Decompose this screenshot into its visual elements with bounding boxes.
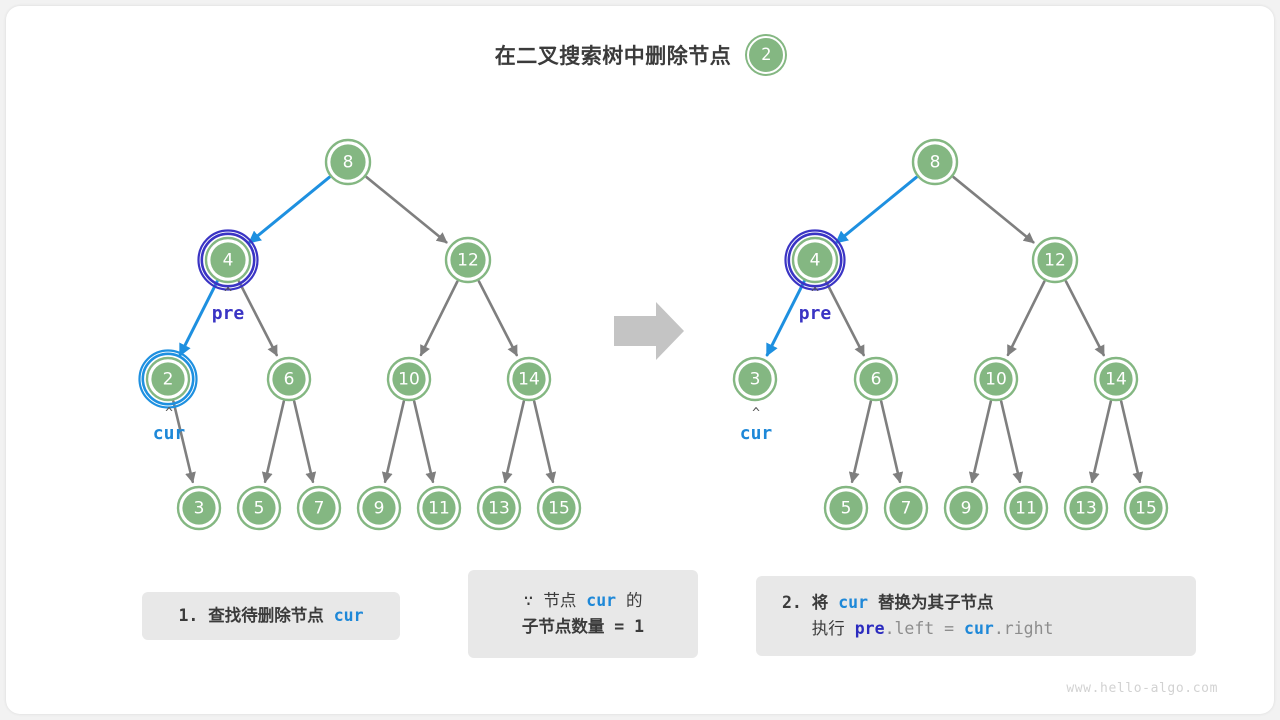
tree-node[interactable]: 11 [1005,487,1047,529]
tree-node-value: 4 [223,251,234,271]
tree-node-value: 2 [163,370,174,390]
tree-node[interactable]: 7 [298,487,340,529]
tree-edge [881,401,900,481]
caption-segment: cur [964,619,994,638]
tree-node-value: 8 [343,153,354,173]
pointer-cur: ^cur [153,406,186,444]
tree-edge [954,177,1034,242]
caption-segment: cur [586,591,616,610]
tree-node[interactable]: 8 [326,140,370,184]
tree-node[interactable]: 8 [913,140,957,184]
after-deletion-tree: 8412361014579111315^pre^cur [734,140,1167,529]
tree-node-value: 7 [901,499,912,519]
tree-edge [1001,401,1020,481]
pointer-label: cur [740,423,773,444]
tree-node[interactable]: 13 [478,487,520,529]
tree-node-value: 4 [810,251,821,271]
caption-line: 2. 将 cur 替换为其子节点 [782,590,1196,616]
caret-icon: ^ [165,406,173,421]
tree-node-value: 10 [398,370,420,390]
caption-line: 子节点数量 = 1 [522,614,644,640]
caption-segment: .left [885,619,935,638]
caption-segment: 替换为其子节点 [868,593,993,612]
tree-node-value: 15 [1135,499,1157,519]
tree-edge [265,401,284,481]
caption-segment: cur [334,606,364,625]
pointer-pre: ^pre [799,286,832,324]
tree-node-value: 6 [284,370,295,390]
tree-node-value: 5 [841,499,852,519]
tree-edge [479,281,517,355]
tree-node-value: 13 [1075,499,1097,519]
figure-card: 在二叉搜索树中删除节点 2 84122610143579111315^pre^c… [6,6,1274,714]
tree-node[interactable]: 4 [786,231,845,290]
tree-node[interactable]: 10 [388,358,430,400]
tree-edge [972,401,991,481]
tree-node[interactable]: 9 [358,487,400,529]
tree-edge [837,177,917,242]
tree-node-value: 11 [1015,499,1037,519]
tree-node-value: 3 [194,499,205,519]
tree-node-value: 3 [750,370,761,390]
tree-node[interactable]: 4 [199,231,258,290]
tree-edge [421,282,457,355]
caption-segment: 子节点数量 = 1 [522,617,644,636]
tree-node-value: 9 [374,499,385,519]
tree-node-value: 14 [518,370,540,390]
caption-segment: cur [838,593,868,612]
tree-node[interactable]: 5 [238,487,280,529]
tree-node[interactable]: 14 [508,358,550,400]
right-block-arrow [614,302,684,360]
tree-edge [367,177,447,242]
tree-node[interactable]: 2 [140,351,197,408]
tree-node-value: 11 [428,499,450,519]
tree-edge [250,177,330,242]
tree-node[interactable]: 6 [855,358,897,400]
caret-icon: ^ [811,286,819,301]
caption-segment: 的 [616,591,642,610]
caption-line: 执行 pre.left = cur.right [782,616,1196,642]
caption-segment: 执行 [782,619,855,638]
tree-node-value: 6 [871,370,882,390]
tree-node-value: 8 [930,153,941,173]
tree-edge [1008,282,1044,355]
watermark: www.hello-algo.com [1066,681,1218,696]
caption-step-1: 1. 查找待删除节点 cur [142,592,400,640]
tree-node[interactable]: 13 [1065,487,1107,529]
caption-segment: ∵ 节点 [523,591,586,610]
tree-node[interactable]: 12 [1033,238,1077,282]
tree-edge [852,401,871,481]
caption-segment: = [934,619,964,638]
caption-line: ∵ 节点 cur 的 [523,588,642,614]
tree-node[interactable]: 12 [446,238,490,282]
caption-step-2: 2. 将 cur 替换为其子节点 执行 pre.left = cur.right [756,576,1196,656]
tree-edge [1066,281,1104,355]
tree-node-value: 9 [961,499,972,519]
pointer-label: pre [212,303,245,324]
tree-node-value: 12 [1044,251,1066,271]
caption-segment: 2. 将 [782,593,838,612]
pointer-label: pre [799,303,832,324]
tree-edge [534,401,553,481]
before-deletion-tree: 84122610143579111315^pre^cur [140,140,581,529]
caption-line: 1. 查找待删除节点 cur [178,603,363,629]
tree-node[interactable]: 10 [975,358,1017,400]
tree-node-value: 5 [254,499,265,519]
tree-node[interactable]: 3 [734,358,776,400]
pointer-pre: ^pre [212,286,245,324]
tree-node-value: 15 [548,499,570,519]
caption-segment: 1. 查找待删除节点 [178,606,333,625]
tree-edge [505,401,524,481]
tree-edge [239,281,277,355]
tree-edge [294,401,313,481]
tree-node-value: 7 [314,499,325,519]
caption-segment: .right [994,619,1054,638]
tree-edge [385,401,404,481]
tree-node[interactable]: 15 [538,487,580,529]
caret-icon: ^ [752,406,760,421]
tree-node-value: 12 [457,251,479,271]
tree-node[interactable]: 3 [178,487,220,529]
tree-node-value: 13 [488,499,510,519]
pointer-label: cur [153,423,186,444]
page-root: 在二叉搜索树中删除节点 2 84122610143579111315^pre^c… [0,0,1280,720]
tree-edge [826,281,864,355]
tree-node[interactable]: 9 [945,487,987,529]
tree-node[interactable]: 6 [268,358,310,400]
tree-edge [414,401,433,481]
tree-node[interactable]: 14 [1095,358,1137,400]
tree-node[interactable]: 11 [418,487,460,529]
pointer-cur: ^cur [740,406,773,444]
tree-node[interactable]: 7 [885,487,927,529]
caption-reason: ∵ 节点 cur 的子节点数量 = 1 [468,570,698,658]
tree-node[interactable]: 15 [1125,487,1167,529]
tree-node-value: 10 [985,370,1007,390]
caret-icon: ^ [224,286,232,301]
tree-edge [1092,401,1111,481]
tree-node-value: 14 [1105,370,1127,390]
tree-node[interactable]: 5 [825,487,867,529]
caption-segment: pre [855,619,885,638]
tree-edge [1121,401,1140,481]
